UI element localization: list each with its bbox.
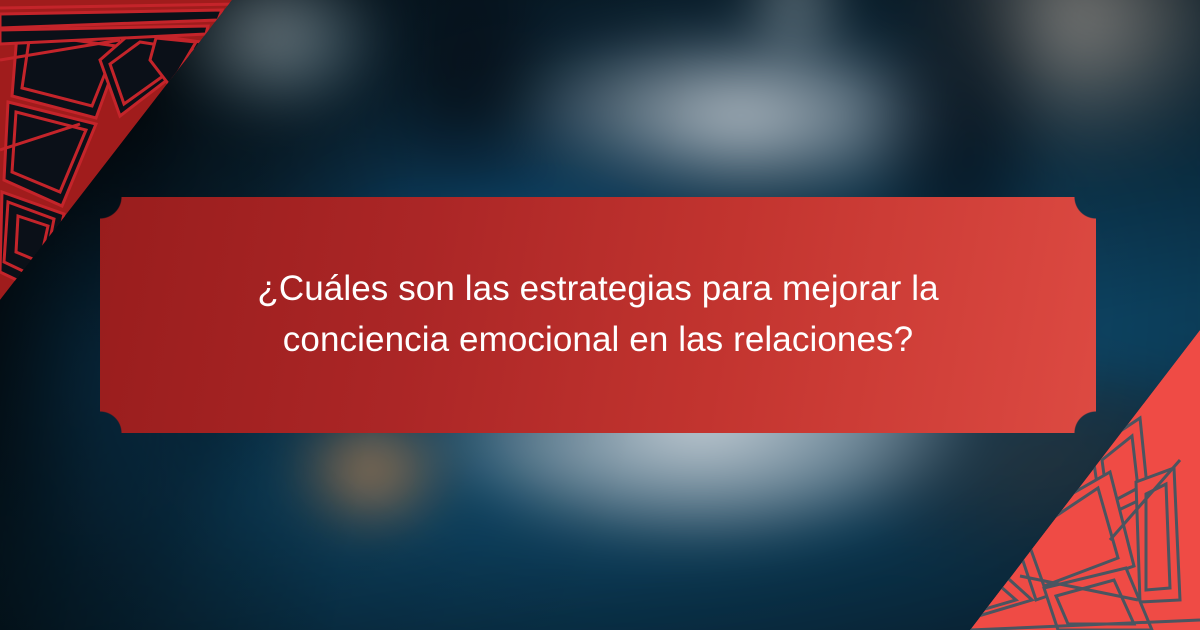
title-banner: ¿Cuáles son las estrategias para mejorar…: [100, 197, 1096, 433]
page-title: ¿Cuáles son las estrategias para mejorar…: [200, 264, 996, 366]
share-card: ¿Cuáles son las estrategias para mejorar…: [0, 0, 1200, 630]
